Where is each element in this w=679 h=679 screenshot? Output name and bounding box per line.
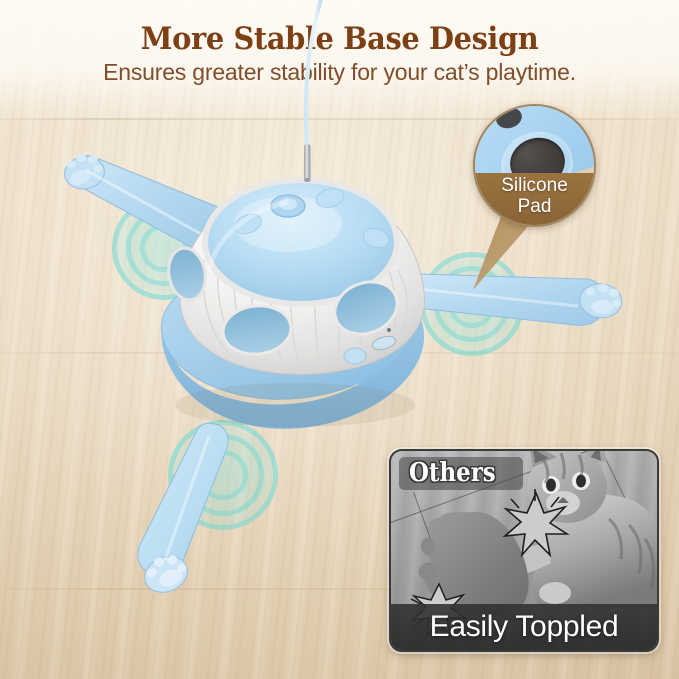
others-badge-label: Others — [409, 459, 496, 487]
callout-label-band: Silicone Pad — [475, 173, 594, 225]
callout-label-line2: Pad — [518, 196, 552, 217]
magnifier-circle-icon: Silicone Pad — [473, 104, 596, 227]
impact-spark-icon — [501, 489, 571, 559]
comparison-caption: Easily Toppled — [430, 610, 619, 644]
toy-dome-body — [170, 176, 435, 391]
product-feature-image: More Stable Base Design Ensures greater … — [0, 0, 679, 679]
others-badge: Others — [399, 457, 523, 490]
wand-rod — [281, 0, 317, 192]
comparison-panel-others: Others Easily Toppled — [389, 449, 659, 652]
comparison-caption-bar: Easily Toppled — [391, 604, 657, 650]
callout-label-line1: Silicone — [501, 175, 568, 196]
